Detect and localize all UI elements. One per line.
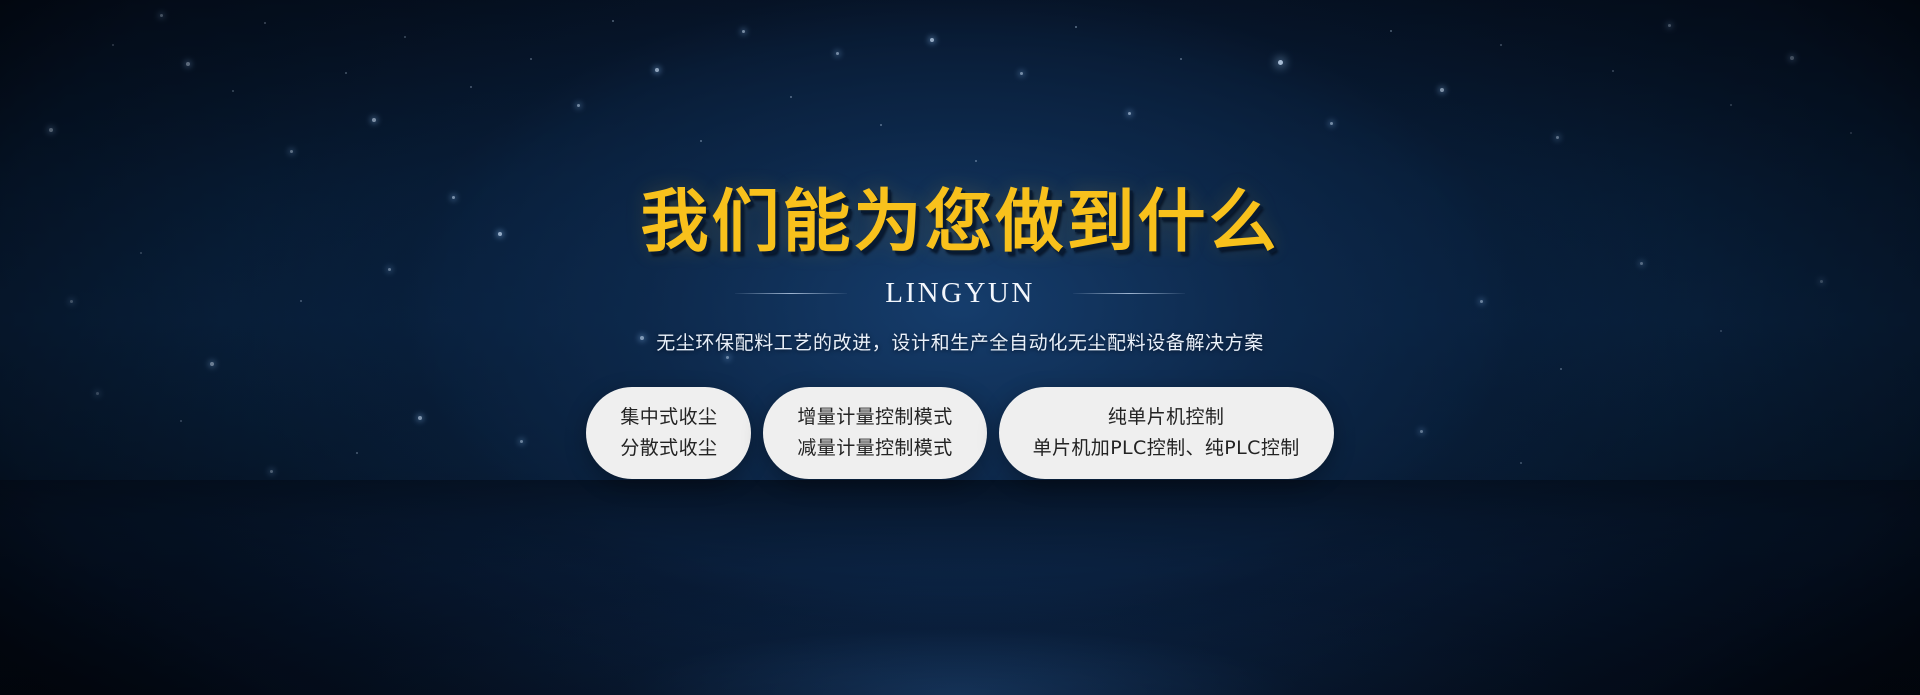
pill-line: 减量计量控制模式 bbox=[797, 438, 952, 460]
feature-pill-control-system[interactable]: 纯单片机控制 单片机加PLC控制、纯PLC控制 bbox=[999, 387, 1334, 479]
pill-line: 分散式收尘 bbox=[620, 438, 717, 460]
brand-name: LINGYUN bbox=[885, 277, 1035, 310]
divider-line-right bbox=[1073, 293, 1185, 294]
pill-line: 单片机加PLC控制、纯PLC控制 bbox=[1033, 438, 1300, 460]
divider-line-left bbox=[735, 293, 847, 294]
page-title: 我们能为您做到什么 bbox=[640, 186, 1279, 259]
pill-line: 增量计量控制模式 bbox=[797, 407, 952, 429]
banner-description: 无尘环保配料工艺的改进，设计和生产全自动化无尘配料设备解决方案 bbox=[656, 328, 1264, 355]
brand-row: LINGYUN bbox=[735, 277, 1185, 310]
pill-line: 纯单片机控制 bbox=[1108, 407, 1224, 429]
feature-pill-metering-mode[interactable]: 增量计量控制模式 减量计量控制模式 bbox=[763, 387, 986, 479]
hero-banner: 我们能为您做到什么 LINGYUN 无尘环保配料工艺的改进，设计和生产全自动化无… bbox=[0, 0, 1920, 695]
banner-content: 我们能为您做到什么 LINGYUN 无尘环保配料工艺的改进，设计和生产全自动化无… bbox=[0, 0, 1920, 695]
feature-pill-group: 集中式收尘 分散式收尘 增量计量控制模式 减量计量控制模式 纯单片机控制 单片机… bbox=[586, 387, 1333, 479]
feature-pill-dust-collection[interactable]: 集中式收尘 分散式收尘 bbox=[586, 387, 751, 479]
pill-line: 集中式收尘 bbox=[620, 407, 717, 429]
